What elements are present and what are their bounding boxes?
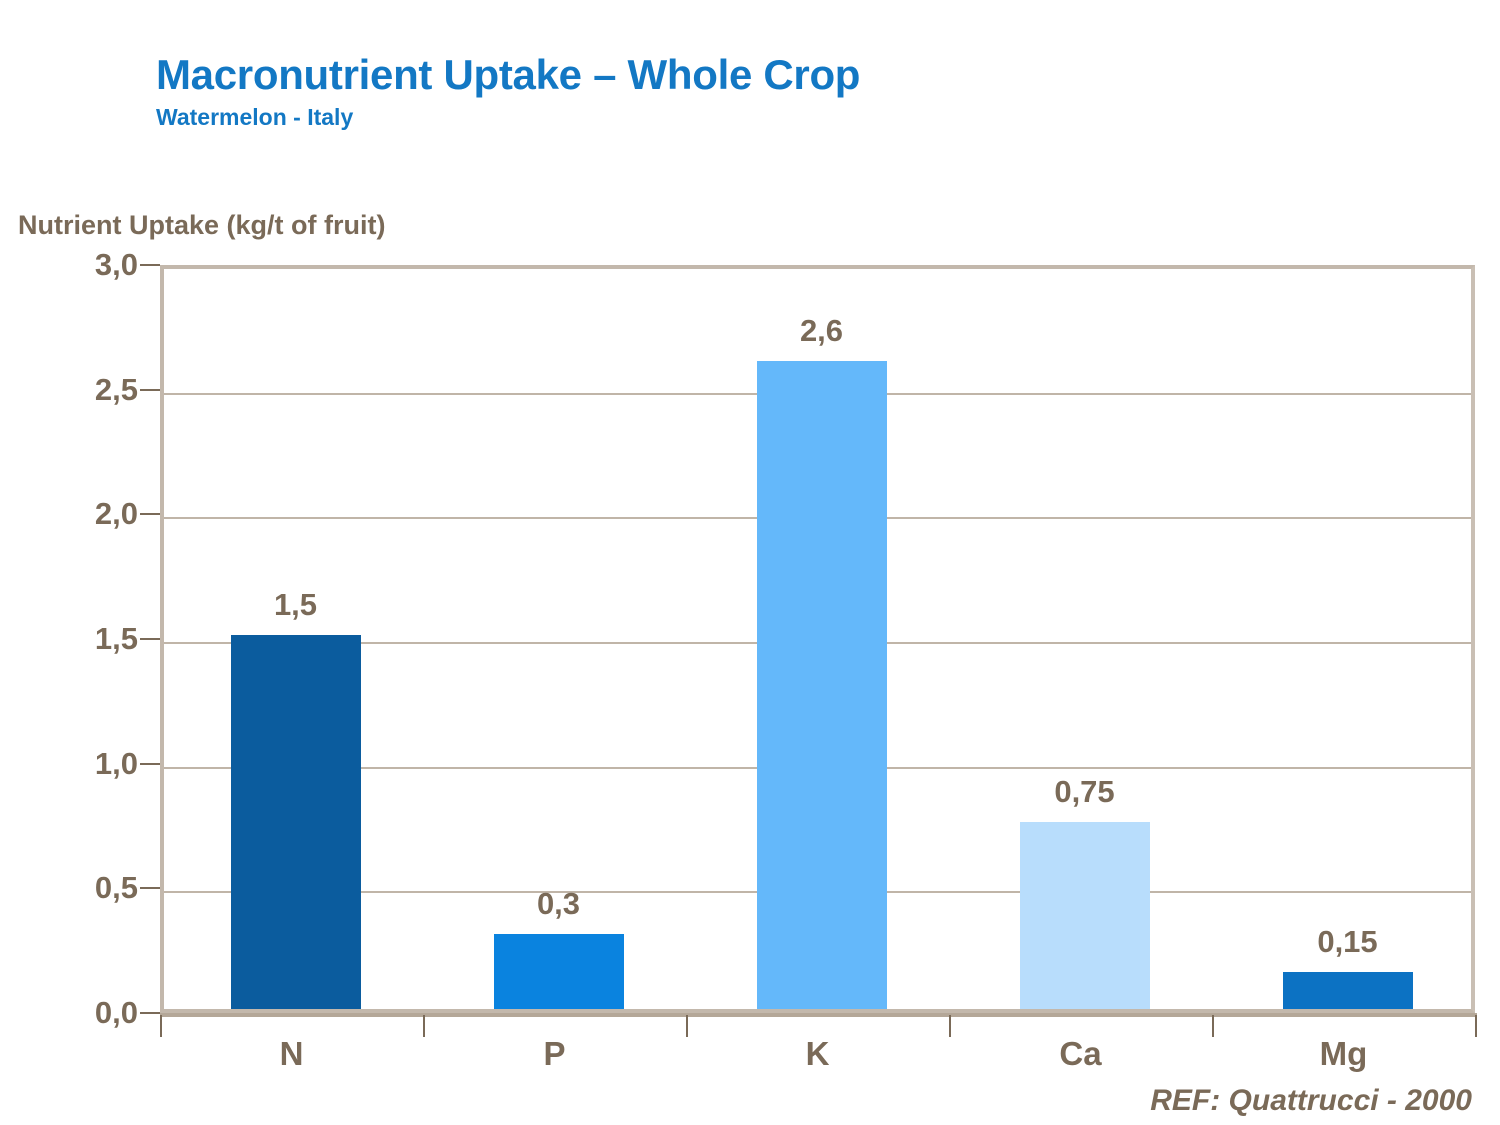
page-subtitle: Watermelon - Italy [156, 104, 1356, 131]
bar-n[interactable] [231, 635, 361, 1009]
x-axis-tick-mark [160, 1015, 162, 1037]
page-title: Macronutrient Uptake – Whole Crop [156, 52, 1356, 97]
y-axis-tick-mark [140, 638, 160, 640]
x-axis-category-p: P [543, 1035, 565, 1073]
bar-mg[interactable] [1283, 972, 1413, 1009]
y-axis-tick-mark [140, 763, 160, 765]
bar-k[interactable] [757, 361, 887, 1009]
bar-group-ca: 0,75 [953, 269, 1216, 1009]
x-axis-tick-mark [423, 1015, 425, 1037]
y-axis-tick-label: 1,0 [10, 746, 138, 782]
bar-value-label-k: 2,6 [800, 313, 843, 349]
x-axis-tick-mark [1212, 1015, 1214, 1037]
y-axis-tick-mark [140, 513, 160, 515]
y-axis-tick-label: 0,0 [10, 995, 138, 1031]
x-axis-tick-mark [949, 1015, 951, 1037]
x-axis-tick-mark [1475, 1015, 1477, 1037]
bar-group-mg: 0,15 [1216, 269, 1479, 1009]
x-axis-category-ca: Ca [1059, 1035, 1101, 1073]
y-axis-tick-label: 2,0 [10, 496, 138, 532]
bar-value-label-ca: 0,75 [1054, 774, 1114, 810]
bar-group-n: 1,5 [164, 269, 427, 1009]
x-axis-tick-mark [686, 1015, 688, 1037]
title-block: Macronutrient Uptake – Whole Crop Waterm… [156, 52, 1356, 131]
x-axis-category-mg: Mg [1320, 1035, 1368, 1073]
y-axis-tick-mark [140, 887, 160, 889]
bar-group-k: 2,6 [690, 269, 953, 1009]
y-axis-title: Nutrient Uptake (kg/t of fruit) [18, 210, 385, 241]
y-axis-tick-mark [140, 389, 160, 391]
bar-value-label-p: 0,3 [537, 886, 580, 922]
x-axis-line [160, 1013, 1477, 1017]
y-axis-tick-mark [140, 1012, 160, 1014]
reference-note: REF: Quattrucci - 2000 [1150, 1084, 1472, 1118]
chart-plot-area: 1,50,32,60,750,15 [160, 265, 1475, 1013]
chart-plot-inner: 1,50,32,60,750,15 [164, 269, 1471, 1009]
bar-ca[interactable] [1020, 822, 1150, 1009]
bar-value-label-n: 1,5 [274, 587, 317, 623]
bar-p[interactable] [494, 934, 624, 1009]
y-axis-tick-label: 0,5 [10, 870, 138, 906]
bar-group-p: 0,3 [427, 269, 690, 1009]
x-axis-category-n: N [280, 1035, 304, 1073]
x-axis-category-k: K [806, 1035, 830, 1073]
y-axis-tick-mark [140, 264, 160, 266]
y-axis-tick-label: 3,0 [10, 247, 138, 283]
y-axis-tick-label: 2,5 [10, 372, 138, 408]
bar-value-label-mg: 0,15 [1317, 924, 1377, 960]
y-axis-tick-label: 1,5 [10, 621, 138, 657]
